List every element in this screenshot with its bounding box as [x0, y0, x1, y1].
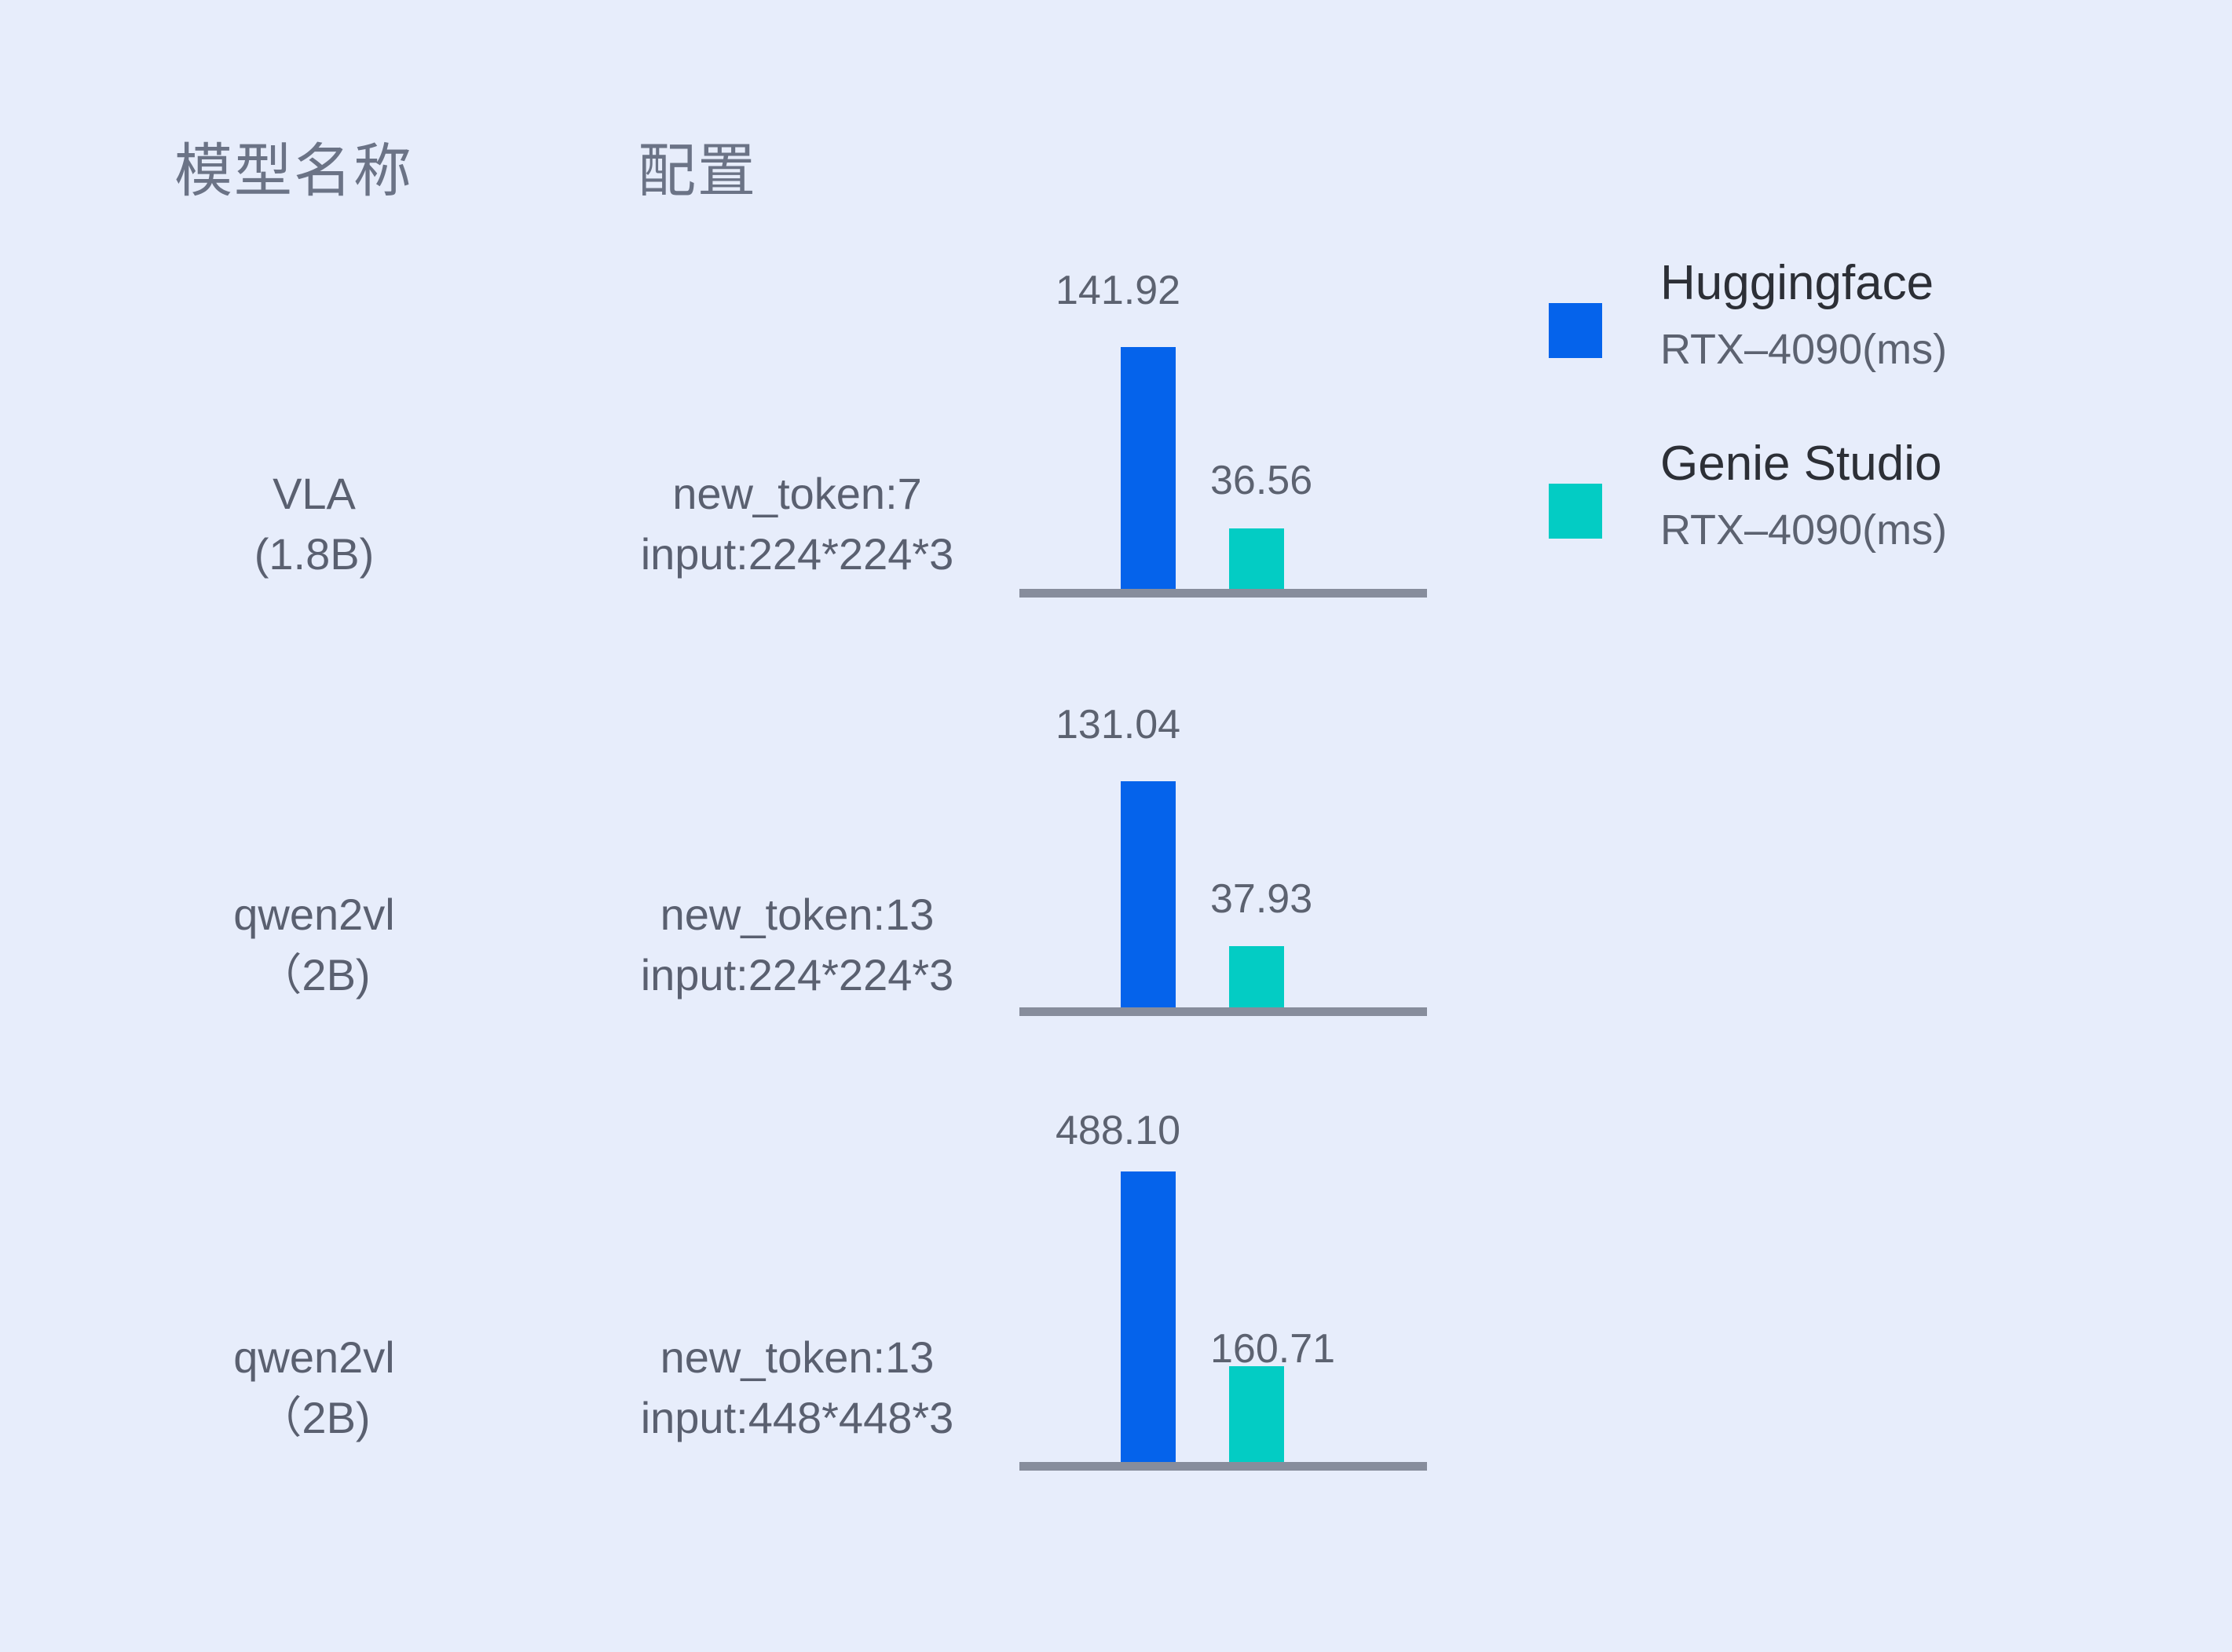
- row-3-chart: 488.10 160.71: [1019, 1178, 1427, 1462]
- row-1-value-huggingface: 141.92: [1056, 267, 1180, 314]
- row-3-config: new_token:13 input:448*448*3: [514, 1327, 1080, 1449]
- row-2-config: new_token:13 input:224*224*3: [514, 884, 1080, 1006]
- row-3-config-line1: new_token:13: [514, 1327, 1080, 1387]
- row-1-config-line2: input:224*224*3: [514, 524, 1080, 584]
- row-2-bar-huggingface: [1121, 781, 1176, 1007]
- row-2-config-line2: input:224*224*3: [514, 945, 1080, 1005]
- row-2-model-name: qwen2vl （2B): [149, 884, 479, 1006]
- row-3-bar-huggingface: [1121, 1171, 1176, 1462]
- row-1-config: new_token:7 input:224*224*3: [514, 463, 1080, 585]
- column-header-model-name: 模型名称: [174, 124, 413, 208]
- row-1-config-line1: new_token:7: [514, 463, 1080, 524]
- legend-swatch-huggingface-icon: [1549, 303, 1602, 358]
- row-2-bar-genie-studio: [1229, 946, 1284, 1007]
- row-2-config-line1: new_token:13: [514, 884, 1080, 945]
- row-1-chart: 141.92 36.56: [1019, 338, 1427, 589]
- row-2-value-genie-studio: 37.93: [1210, 875, 1312, 923]
- legend-swatch-genie-studio-icon: [1549, 484, 1602, 539]
- row-2-baseline: [1019, 1007, 1427, 1016]
- row-1-baseline: [1019, 589, 1427, 598]
- row-1-model-line1: VLA: [149, 463, 479, 524]
- row-1-bar-huggingface: [1121, 347, 1176, 589]
- row-1-model-line2: (1.8B): [149, 524, 479, 584]
- legend-text-huggingface: Huggingface RTX–4090(ms): [1660, 259, 2232, 371]
- row-3-model-name: qwen2vl （2B): [149, 1327, 479, 1449]
- legend-title-huggingface: Huggingface: [1660, 259, 2232, 308]
- row-2-value-huggingface: 131.04: [1056, 701, 1180, 748]
- row-3-value-huggingface: 488.10: [1056, 1107, 1180, 1154]
- row-1-bar-genie-studio: [1229, 528, 1284, 589]
- row-3-config-line2: input:448*448*3: [514, 1387, 1080, 1448]
- legend-subtitle-genie-studio: RTX–4090(ms): [1660, 509, 2232, 551]
- row-3-baseline: [1019, 1462, 1427, 1471]
- legend-subtitle-huggingface: RTX–4090(ms): [1660, 328, 2232, 371]
- row-3-model-line2: （2B): [149, 1387, 479, 1448]
- row-2-model-line1: qwen2vl: [149, 884, 479, 945]
- row-3-model-line1: qwen2vl: [149, 1327, 479, 1387]
- row-2-model-line2: （2B): [149, 945, 479, 1005]
- row-3-bar-genie-studio: [1229, 1366, 1284, 1462]
- chart-canvas: 模型名称 配置 VLA (1.8B) new_token:7 input:224…: [0, 0, 2232, 1652]
- legend-text-genie-studio: Genie Studio RTX–4090(ms): [1660, 440, 2232, 551]
- row-2-chart: 131.04 37.93: [1019, 772, 1427, 1007]
- legend-title-genie-studio: Genie Studio: [1660, 440, 2232, 488]
- row-1-model-name: VLA (1.8B): [149, 463, 479, 585]
- column-header-config: 配置: [638, 124, 757, 208]
- row-1-value-genie-studio: 36.56: [1210, 457, 1312, 504]
- row-3-value-genie-studio: 160.71: [1210, 1325, 1335, 1372]
